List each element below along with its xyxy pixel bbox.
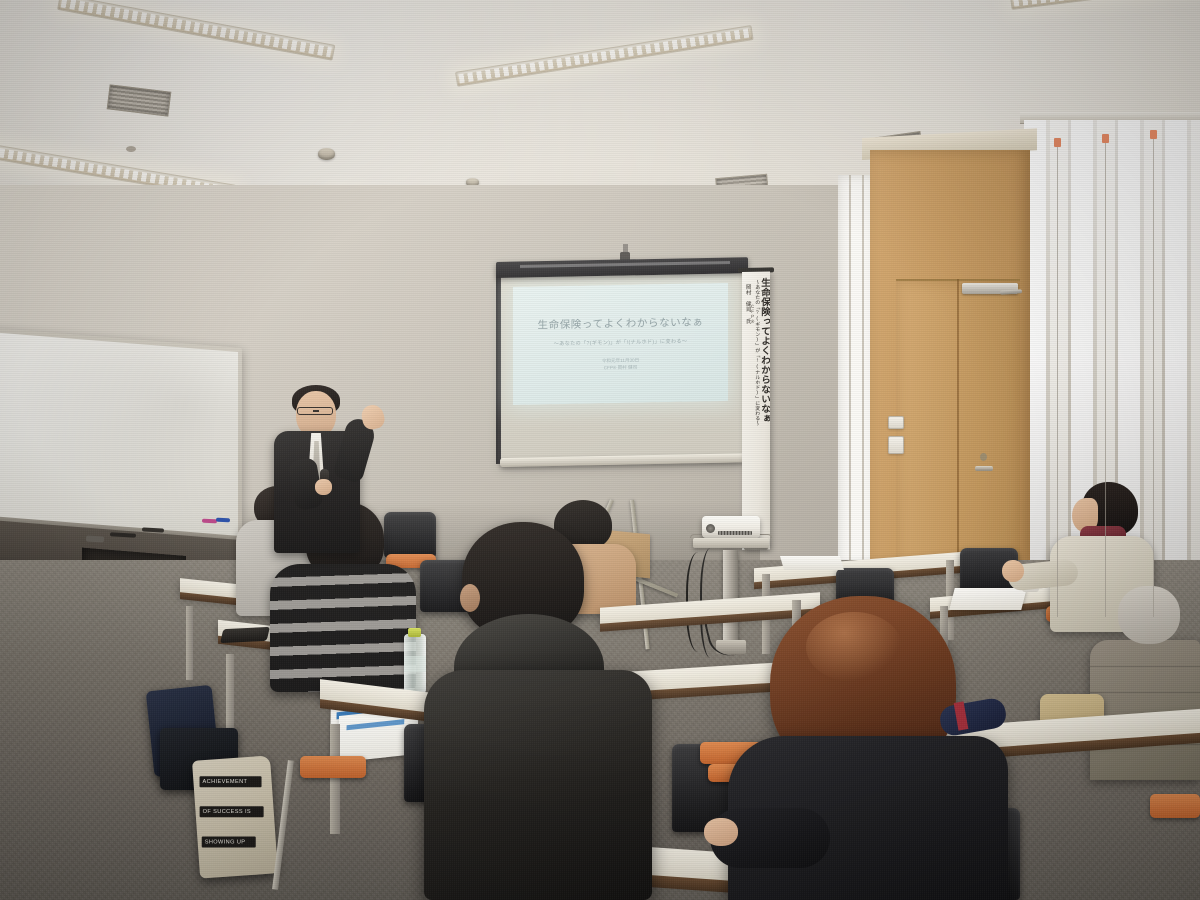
smoke-detector-icon	[318, 148, 335, 160]
banner-title: 生命保険ってよくわからないなぁ	[759, 278, 769, 424]
handout-band	[346, 719, 404, 730]
presenter	[268, 383, 400, 553]
seminar-room-photo: 生命保険ってよくわからないなぁ ～あなたの「?(ギモン)」が「!(ナルホド)」に…	[0, 0, 1200, 900]
ceiling-speaker-icon	[126, 146, 136, 152]
blind-clip-icon	[1150, 130, 1157, 139]
slide-title: 生命保険ってよくわからないなぁ	[538, 314, 704, 332]
blind-clip-icon	[1054, 138, 1061, 147]
tote-bag-line-2: OF SUCCESS IS	[200, 806, 264, 817]
bottle-label	[404, 656, 426, 672]
light-switch[interactable]	[888, 416, 904, 429]
eyeglasses-icon	[297, 407, 333, 415]
projected-slide: 生命保険ってよくわからないなぁ ～あなたの「?(ギモン)」が「!(ナルホド)」に…	[513, 283, 728, 405]
tote-bag-line-1: ACHIEVEMENT	[200, 776, 262, 787]
tote-bag-line-3: SHOWING UP	[202, 836, 256, 847]
torso	[424, 670, 652, 900]
tote-bag: ACHIEVEMENT OF SUCCESS IS SHOWING UP	[192, 755, 278, 878]
blind-clip-icon	[1102, 134, 1109, 143]
hand	[1002, 560, 1024, 582]
vest-quilt-line	[1090, 692, 1200, 693]
attendee-olive-vest-head	[1118, 586, 1180, 644]
marker-icon[interactable]	[202, 519, 217, 524]
door-lock-icon[interactable]	[980, 453, 987, 461]
attendee-auburn-bob	[728, 596, 1018, 900]
projector-lens-icon	[706, 524, 715, 533]
door-handle[interactable]	[975, 466, 993, 471]
blind-cord	[1153, 139, 1154, 617]
hand	[704, 818, 738, 846]
ear	[460, 584, 480, 612]
attendee-dark-hoodie	[424, 522, 674, 900]
bottle-cap	[408, 628, 421, 637]
vertical-banner: 生命保険ってよくわからないなぁ ～あなたの「?(ギモン)」が「!(ナルホド)」に…	[742, 272, 770, 550]
chair-seat[interactable]	[300, 756, 366, 778]
blind-cord	[1105, 143, 1106, 617]
torso	[270, 564, 416, 692]
slide-presenter-line: CFP® 岡村 健司	[604, 365, 638, 373]
remote-control[interactable]	[220, 627, 270, 643]
slide-subtitle: ～あなたの「?(ギモン)」が「!(ナルホド)」に変わる～	[554, 338, 688, 348]
light-switch[interactable]	[888, 436, 904, 454]
projector-vent	[718, 531, 752, 535]
hair-highlight	[806, 612, 902, 682]
projector-stand-top	[693, 538, 769, 548]
blind-cord	[1057, 147, 1058, 617]
desk-leg	[186, 606, 193, 680]
presenter-mic-hand	[315, 479, 332, 495]
marker-icon[interactable]	[216, 518, 230, 523]
papers	[780, 556, 844, 570]
chair-seat[interactable]	[1150, 794, 1200, 818]
whiteboard[interactable]	[0, 332, 238, 540]
vest-quilt-line	[1090, 666, 1200, 667]
desk-leg	[330, 724, 340, 834]
eraser-icon[interactable]	[86, 536, 104, 543]
